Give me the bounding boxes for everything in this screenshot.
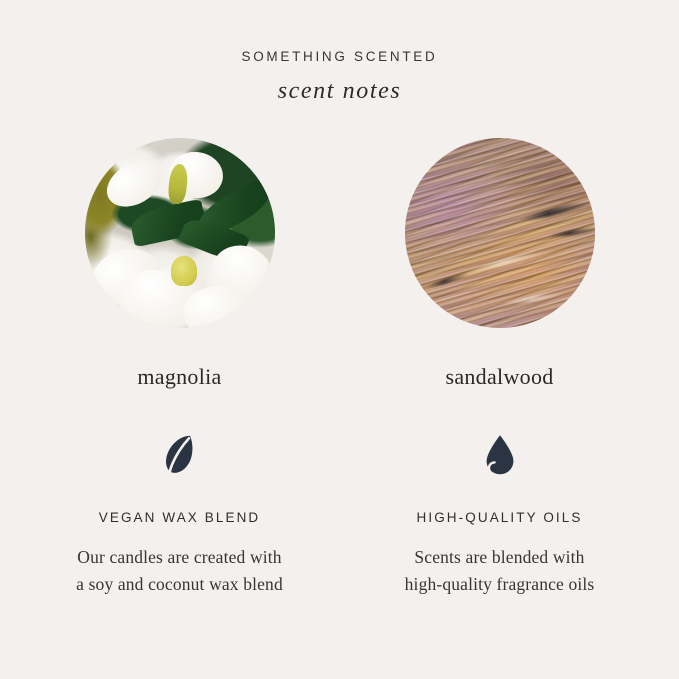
- sandalwood-grain-line: [517, 199, 594, 225]
- page-header: SOMETHING SCENTED scent notes: [0, 48, 679, 105]
- droplet-icon: [480, 432, 520, 478]
- feature-body-line: Scents are blended with: [414, 547, 584, 567]
- scent-note-label: magnolia: [137, 364, 221, 390]
- magnolia-stamen: [171, 256, 197, 286]
- feature-body-line: a soy and coconut wax blend: [76, 574, 283, 594]
- feature-high-quality-oils: HIGH-QUALITY OILS Scents are blended wit…: [340, 432, 660, 598]
- sandalwood-grain-line: [546, 226, 594, 239]
- sandalwood-grain-line: [461, 246, 556, 275]
- scent-note-sandalwood: sandalwood: [340, 138, 660, 390]
- feature-title: VEGAN WAX BLEND: [99, 509, 261, 527]
- magnolia-flower-photo: [85, 138, 275, 328]
- feature-body-line: high-quality fragrance oils: [405, 574, 595, 594]
- features-row: VEGAN WAX BLEND Our candles are created …: [0, 432, 679, 598]
- sandalwood-image: [405, 138, 595, 328]
- scent-note-label: sandalwood: [445, 364, 553, 390]
- feature-body: Scents are blended with high-quality fra…: [405, 544, 595, 598]
- sandalwood-grain-photo: [405, 138, 595, 328]
- magnolia-petal: [98, 152, 168, 216]
- feature-title: HIGH-QUALITY OILS: [417, 509, 583, 527]
- scent-note-magnolia: magnolia: [20, 138, 340, 390]
- page-title: scent notes: [0, 77, 679, 105]
- scent-notes-page: SOMETHING SCENTED scent notes: [0, 0, 679, 679]
- scent-notes-row: magnolia sandalwood: [0, 138, 679, 390]
- eyebrow-label: SOMETHING SCENTED: [0, 48, 679, 66]
- sandalwood-grain-line: [425, 271, 470, 290]
- leaf-icon: [160, 432, 200, 478]
- feature-body-line: Our candles are created with: [77, 547, 281, 567]
- feature-vegan-wax-blend: VEGAN WAX BLEND Our candles are created …: [20, 432, 340, 598]
- magnolia-image: [85, 138, 275, 328]
- sandalwood-grain-line: [500, 291, 570, 306]
- feature-body: Our candles are created with a soy and c…: [76, 544, 283, 598]
